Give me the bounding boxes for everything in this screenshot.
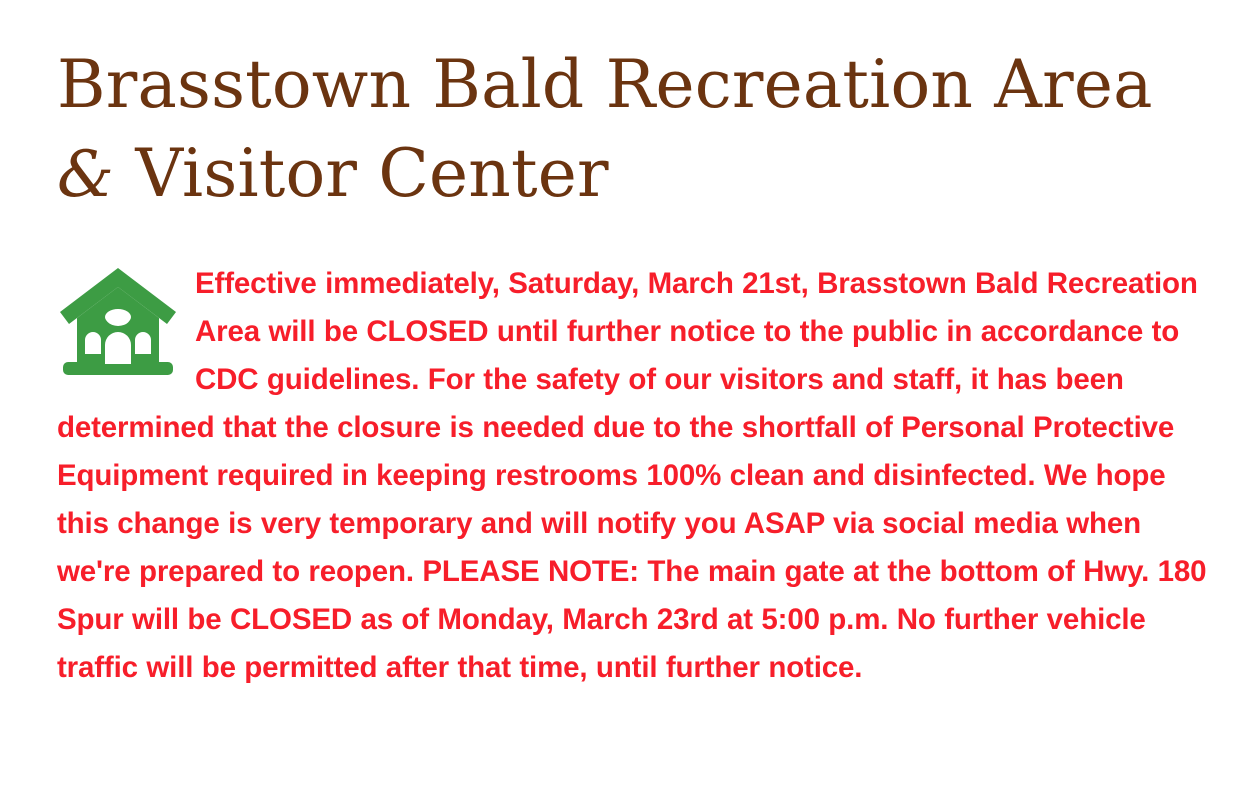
house-icon [57,266,187,386]
ampersand-glyph: & [57,138,114,212]
page-title-text-second-line: Visitor Center [135,135,608,212]
page-title-text: Brasstown Bald Recreation Area [57,46,1153,123]
page-root: Brasstown Bald Recreation Area & Visitor… [0,0,1248,798]
closure-notice-text: Effective immediately, Saturday, March 2… [57,260,1212,692]
closure-notice: Effective immediately, Saturday, March 2… [0,218,1248,692]
page-title: Brasstown Bald Recreation Area & Visitor… [0,0,1248,218]
